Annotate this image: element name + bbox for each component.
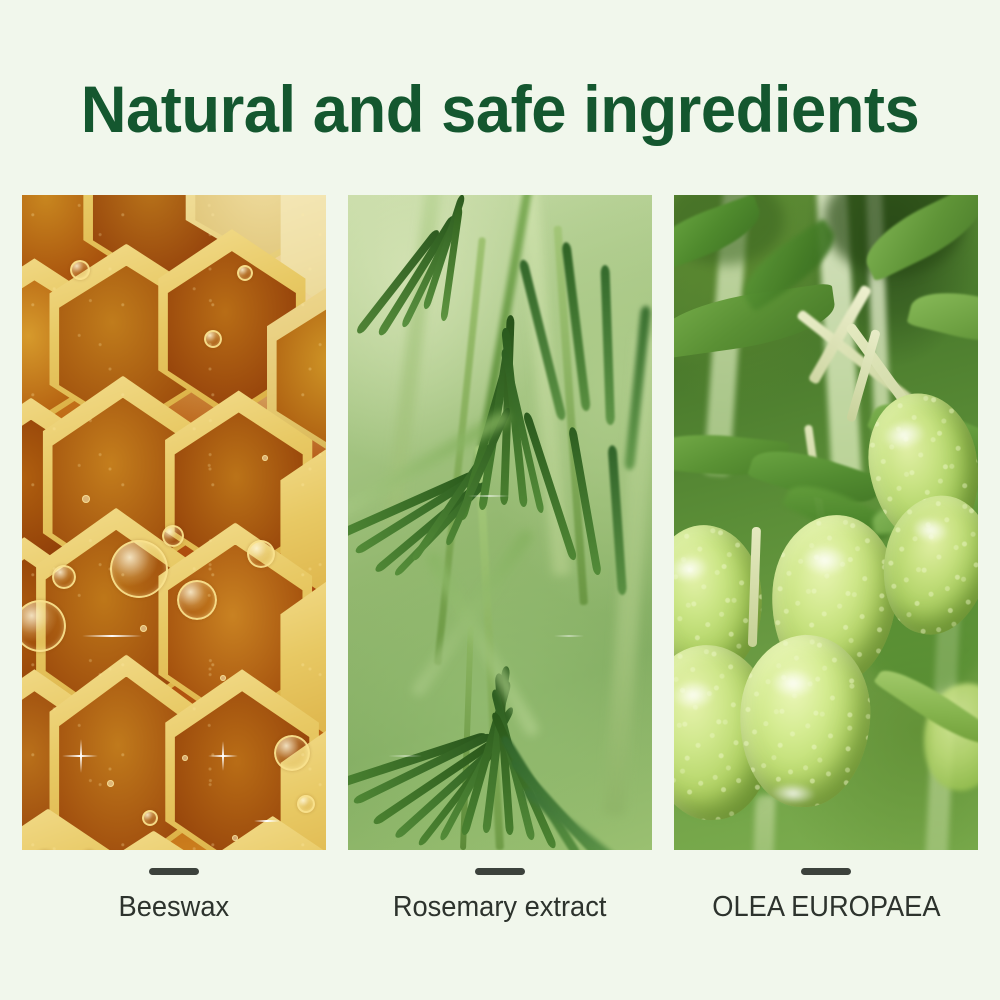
- caption-divider: [801, 868, 851, 875]
- page-title: Natural and safe ingredients: [20, 76, 980, 142]
- honeycomb-photo: [22, 195, 326, 850]
- caption-divider: [475, 868, 525, 875]
- olive-leaf: [906, 281, 978, 353]
- caption-beeswax: Beeswax: [22, 868, 326, 948]
- ingredient-caption-row: Beeswax Rosemary extract OLEA EUROPAEA: [22, 868, 978, 948]
- caption-olea-europaea: OLEA EUROPAEA: [674, 868, 978, 948]
- caption-label: Beeswax: [119, 893, 230, 922]
- ingredients-infographic: Natural and safe ingredients: [0, 0, 1000, 1000]
- rosemary-photo: [348, 195, 652, 850]
- olive-photo: [674, 195, 978, 850]
- caption-rosemary-extract: Rosemary extract: [348, 868, 652, 948]
- caption-label: Rosemary extract: [393, 893, 607, 922]
- ingredient-image-row: [22, 195, 978, 850]
- caption-divider: [149, 868, 199, 875]
- caption-label: OLEA EUROPAEA: [712, 893, 940, 922]
